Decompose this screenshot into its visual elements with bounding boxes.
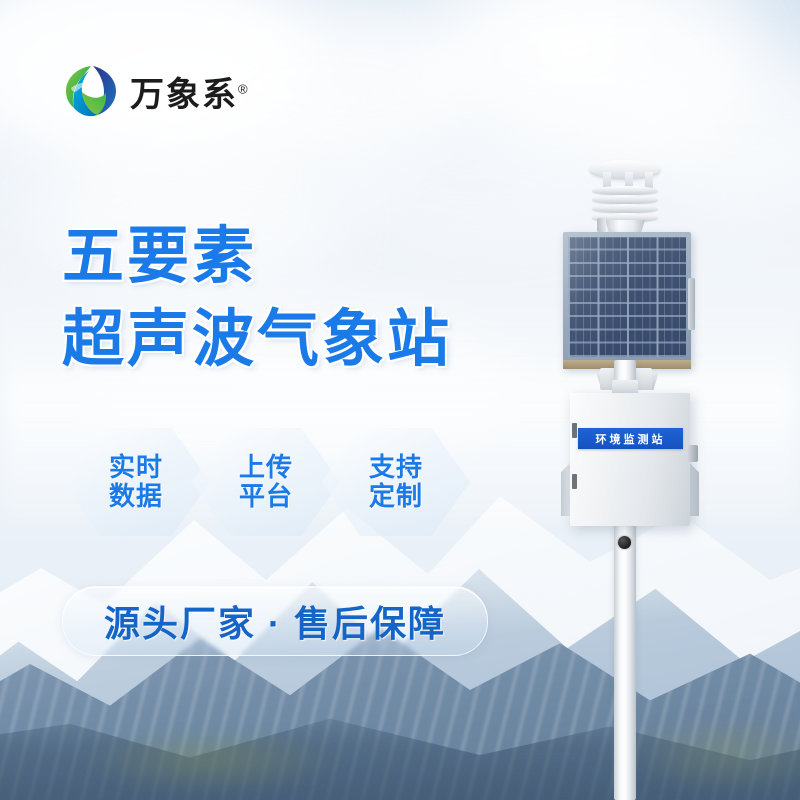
trademark-symbol: ®: [238, 81, 250, 96]
guarantee-banner[interactable]: 源头厂家 · 售后保障: [62, 586, 488, 656]
feature-label-line-2: 平台: [239, 482, 293, 511]
poster-canvas: 环境监测站: [0, 0, 800, 800]
headline-block: 五要素 超声波气象站: [62, 222, 452, 375]
brand-logo[interactable]: 万象系®: [62, 62, 250, 120]
brand-name-text: 万象系: [130, 76, 238, 114]
feature-label-line-1: 上传: [239, 453, 293, 482]
feature-badge-realtime-data[interactable]: 实时 数据: [62, 428, 210, 536]
feature-label-line-2: 定制: [369, 482, 423, 511]
feature-badge-label: 上传 平台: [239, 453, 293, 511]
valley-vegetation: [620, 725, 800, 795]
guarantee-banner-text: 源头厂家 · 售后保障: [104, 595, 446, 647]
feature-badge-label: 实时 数据: [109, 453, 163, 511]
headline-line-2: 超声波气象站: [62, 305, 452, 374]
headline-line-1: 五要素: [62, 222, 452, 291]
valley-vegetation: [80, 735, 340, 795]
feature-badge-label: 支持 定制: [369, 453, 423, 511]
feature-label-line-2: 数据: [109, 482, 163, 511]
feature-badge-customization[interactable]: 支持 定制: [322, 428, 470, 536]
globe-swirl-icon: [62, 62, 120, 120]
feature-label-line-1: 支持: [369, 453, 423, 482]
feature-badge-row: 实时 数据 上传 平台 支持 定制: [62, 428, 452, 536]
brand-wordmark: 万象系®: [130, 67, 250, 116]
feature-badge-upload-platform[interactable]: 上传 平台: [192, 428, 340, 536]
feature-label-line-1: 实时: [109, 453, 163, 482]
